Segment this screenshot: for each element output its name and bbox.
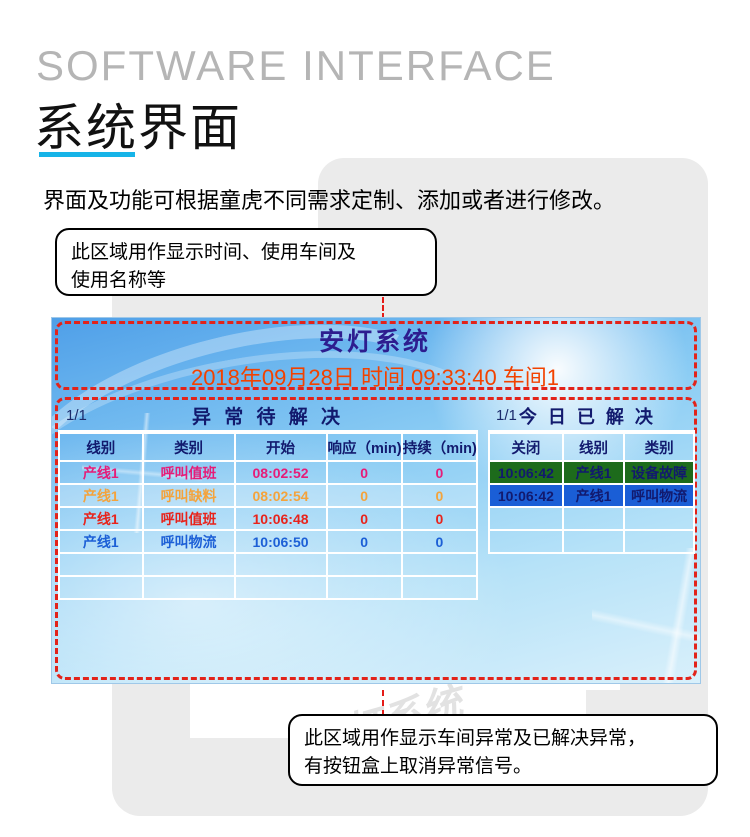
callout-bottom: 此区域用作显示车间异常及已解决异常， 有按钮盒上取消异常信号。 [288,714,718,786]
table-row-empty [59,576,477,599]
bg-cutout-lower-left [190,676,268,738]
cell-response: 0 [327,507,402,530]
pending-col-response: 响应（min) [327,433,402,461]
table-row[interactable]: 产线1 呼叫物流 10:06:50 0 0 [59,530,477,553]
title-underline-rule [39,152,135,157]
cell-duration: 0 [402,461,477,484]
annotation-box-header [55,321,697,390]
callout-top-line2: 使用名称等 [71,267,421,295]
pending-table-header-row: 线别 类别 开始 响应（min) 持续（min) [59,433,477,461]
pending-col-line: 线别 [59,433,143,461]
cell-closed-time: 10:06:42 [489,461,563,484]
cell-closed-time: 10:06:42 [489,484,563,507]
resolved-table: 关闭 线别 类别 10:06:42 产线1 设备故障 10:06:42 产线1 … [488,432,695,554]
cell-line: 产线1 [59,507,143,530]
cell-line: 产线1 [59,484,143,507]
table-row[interactable]: 产线1 呼叫值班 10:06:48 0 0 [59,507,477,530]
pending-col-category: 类别 [143,433,235,461]
cell-response: 0 [327,484,402,507]
cell-category: 呼叫值班 [143,507,235,530]
cell-line: 产线1 [59,530,143,553]
cell-line: 产线1 [59,461,143,484]
resolved-panel-header: 1/1 今 日 已 解 决 [488,401,695,432]
cell-category: 呼叫物流 [624,484,694,507]
pending-panel-title: 异 常 待 解 决 [58,402,478,429]
cell-category: 呼叫值班 [143,461,235,484]
cell-response: 0 [327,530,402,553]
cell-category: 设备故障 [624,461,694,484]
callout-top-line1: 此区域用作显示时间、使用车间及 [71,239,421,267]
cell-category: 呼叫缺料 [143,484,235,507]
table-row[interactable]: 产线1 呼叫缺料 08:02:54 0 0 [59,484,477,507]
callout-top-leader-line [382,297,384,319]
cell-start: 10:06:48 [235,507,327,530]
page-subtitle: 界面及功能可根据童虎不同需求定制、添加或者进行修改。 [43,183,615,215]
resolved-col-closed: 关闭 [489,433,563,461]
resolved-panel: 1/1 今 日 已 解 决 关闭 线别 类别 10:06:42 产线1 设备故障… [488,401,695,676]
pending-table: 线别 类别 开始 响应（min) 持续（min) 产线1 呼叫值班 08:02:… [58,432,478,600]
pending-panel: 1/1 异 常 待 解 决 线别 类别 开始 响应（min) 持续（min) 产… [58,401,478,676]
cell-start: 08:02:54 [235,484,327,507]
pending-col-start: 开始 [235,433,327,461]
table-row-empty [489,507,694,530]
callout-bottom-leader-line [382,690,384,716]
cell-start: 10:06:50 [235,530,327,553]
cell-duration: 0 [402,484,477,507]
table-row[interactable]: 产线1 呼叫值班 08:02:52 0 0 [59,461,477,484]
callout-bottom-line1: 此区域用作显示车间异常及已解决异常， [304,725,702,753]
cell-duration: 0 [402,507,477,530]
cell-line: 产线1 [563,484,625,507]
resolved-page-indicator: 1/1 [488,407,517,424]
page-title-chinese: 系统界面 [34,88,242,160]
resolved-col-category: 类别 [624,433,694,461]
page-title-english: SOFTWARE INTERFACE [36,42,556,90]
table-row[interactable]: 10:06:42 产线1 呼叫物流 [489,484,694,507]
pending-panel-header: 1/1 异 常 待 解 决 [58,401,478,432]
resolved-panel-title: 今 日 已 解 决 [517,403,656,429]
pending-col-duration: 持续（min) [402,433,477,461]
callout-bottom-line2: 有按钮盒上取消异常信号。 [304,753,702,781]
cell-duration: 0 [402,530,477,553]
cell-response: 0 [327,461,402,484]
table-row-empty [489,530,694,553]
resolved-table-header-row: 关闭 线别 类别 [489,433,694,461]
cell-start: 08:02:52 [235,461,327,484]
callout-top: 此区域用作显示时间、使用车间及 使用名称等 [55,228,437,296]
table-row[interactable]: 10:06:42 产线1 设备故障 [489,461,694,484]
table-row-empty [59,553,477,576]
resolved-col-line: 线别 [563,433,625,461]
cell-category: 呼叫物流 [143,530,235,553]
cell-line: 产线1 [563,461,625,484]
